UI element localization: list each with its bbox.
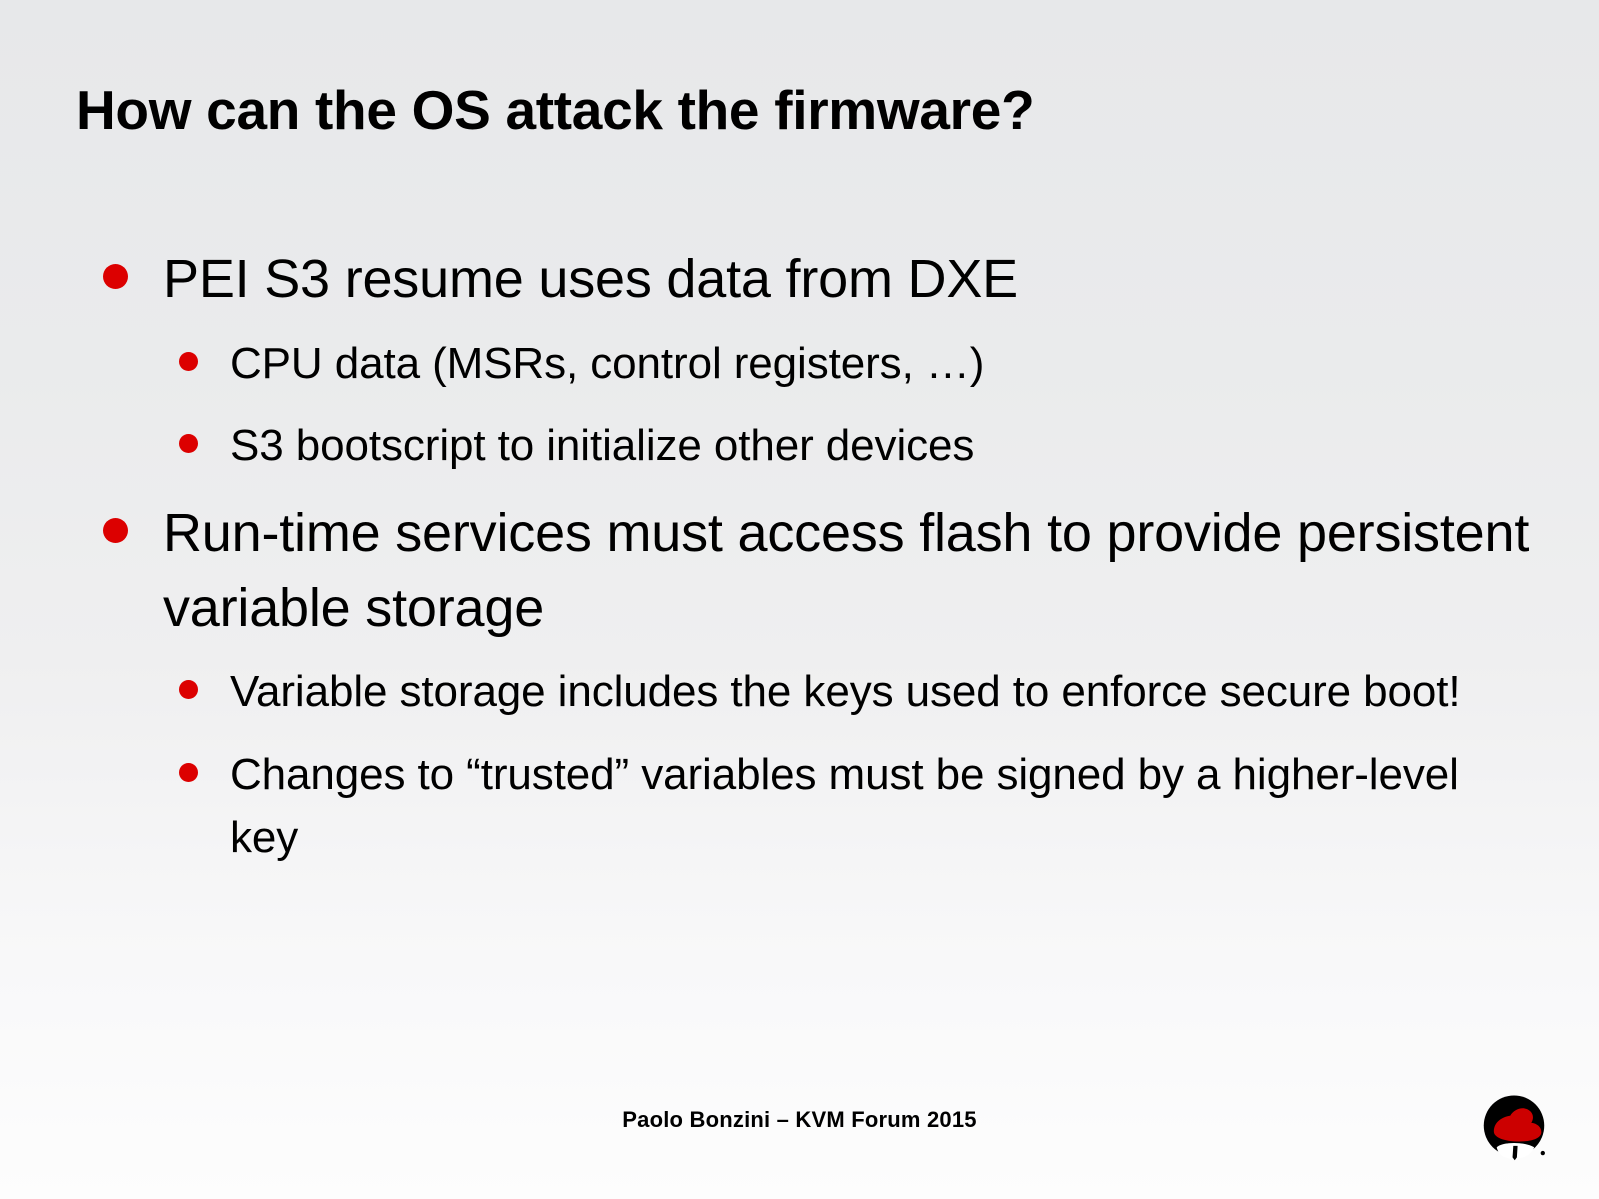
bullet-text: PEI S3 resume uses data from DXE [163, 242, 1018, 317]
bullet-text: Run-time services must access flash to p… [163, 496, 1563, 645]
bullet-item-level2: S3 bootscript to initialize other device… [0, 415, 1599, 478]
footer-attribution: Paolo Bonzini – KVM Forum 2015 [0, 1107, 1599, 1133]
bullet-dot-icon [179, 661, 230, 699]
bullet-dot-icon [179, 415, 230, 453]
bullet-item-level1: PEI S3 resume uses data from DXE [0, 242, 1599, 317]
bullet-item-level2: Changes to “trusted” variables must be s… [0, 744, 1599, 870]
bullet-text: CPU data (MSRs, control registers, …) [230, 333, 984, 396]
bullet-text: S3 bootscript to initialize other device… [230, 415, 974, 478]
bullet-dot-icon [103, 242, 163, 289]
bullet-item-level1: Run-time services must access flash to p… [0, 496, 1599, 645]
bullet-item-level2: Variable storage includes the keys used … [0, 661, 1599, 724]
bullet-dot-icon [179, 333, 230, 371]
bullet-text: Changes to “trusted” variables must be s… [230, 744, 1520, 870]
bullet-dot-icon [103, 496, 163, 543]
bullet-list: PEI S3 resume uses data from DXE CPU dat… [0, 242, 1599, 874]
bullet-text: Variable storage includes the keys used … [230, 661, 1461, 724]
presentation-slide: How can the OS attack the firmware? PEI … [0, 0, 1599, 1199]
bullet-item-level2: CPU data (MSRs, control registers, …) [0, 333, 1599, 396]
page-title: How can the OS attack the firmware? [76, 80, 1526, 142]
bullet-dot-icon [179, 744, 230, 782]
red-hat-shadowman-logo [1478, 1091, 1550, 1169]
